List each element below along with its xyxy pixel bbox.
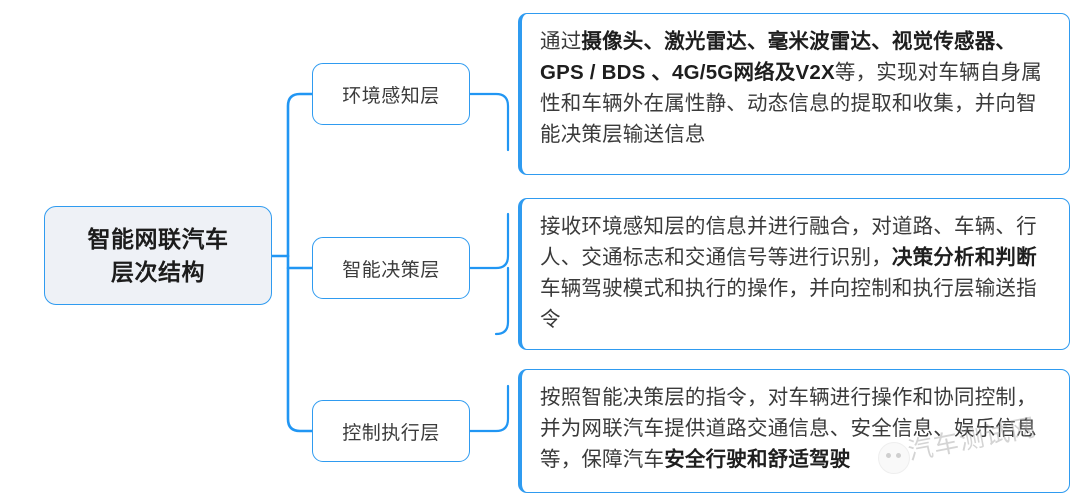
root-node[interactable]: 智能网联汽车 层次结构	[44, 206, 272, 305]
description-text: 接收环境感知层的信息并进行融合，对道路、车辆、行人、交通标志和交通信号等进行识别…	[540, 211, 1053, 336]
connector-spine-to-control	[288, 256, 312, 431]
connector-decision-to-desc-lower	[496, 268, 508, 334]
root-node-label: 智能网联汽车 层次结构	[88, 223, 229, 288]
connector-decision-to-desc	[470, 214, 508, 268]
root-node-label-line2: 层次结构	[88, 256, 229, 289]
layer-node-label: 环境感知层	[342, 81, 440, 108]
connector-spine-to-perception	[288, 94, 312, 256]
layer-node-control[interactable]: 控制执行层	[312, 400, 470, 462]
connector-control-to-desc	[470, 386, 508, 431]
description-box-decision[interactable]: 接收环境感知层的信息并进行融合，对道路、车辆、行人、交通标志和交通信号等进行识别…	[518, 198, 1070, 350]
description-box-perception[interactable]: 通过摄像头、激光雷达、毫米波雷达、视觉传感器、 GPS / BDS 、4G/5G…	[518, 13, 1070, 175]
layer-node-decision[interactable]: 智能决策层	[312, 237, 470, 299]
description-text: 通过摄像头、激光雷达、毫米波雷达、视觉传感器、 GPS / BDS 、4G/5G…	[540, 26, 1053, 151]
mindmap-canvas: 智能网联汽车 层次结构 环境感知层 智能决策层 控制执行层 通过摄像头、激光雷达…	[0, 0, 1080, 501]
layer-node-label: 控制执行层	[342, 418, 440, 445]
description-box-control[interactable]: 按照智能决策层的指令，对车辆进行操作和协同控制，并为网联汽车提供道路交通信息、安…	[518, 369, 1070, 493]
layer-node-label: 智能决策层	[342, 255, 440, 282]
root-node-label-line1: 智能网联汽车	[88, 223, 229, 256]
layer-node-perception[interactable]: 环境感知层	[312, 63, 470, 125]
description-text: 按照智能决策层的指令，对车辆进行操作和协同控制，并为网联汽车提供道路交通信息、安…	[540, 382, 1053, 475]
connector-perception-to-desc	[470, 94, 508, 150]
